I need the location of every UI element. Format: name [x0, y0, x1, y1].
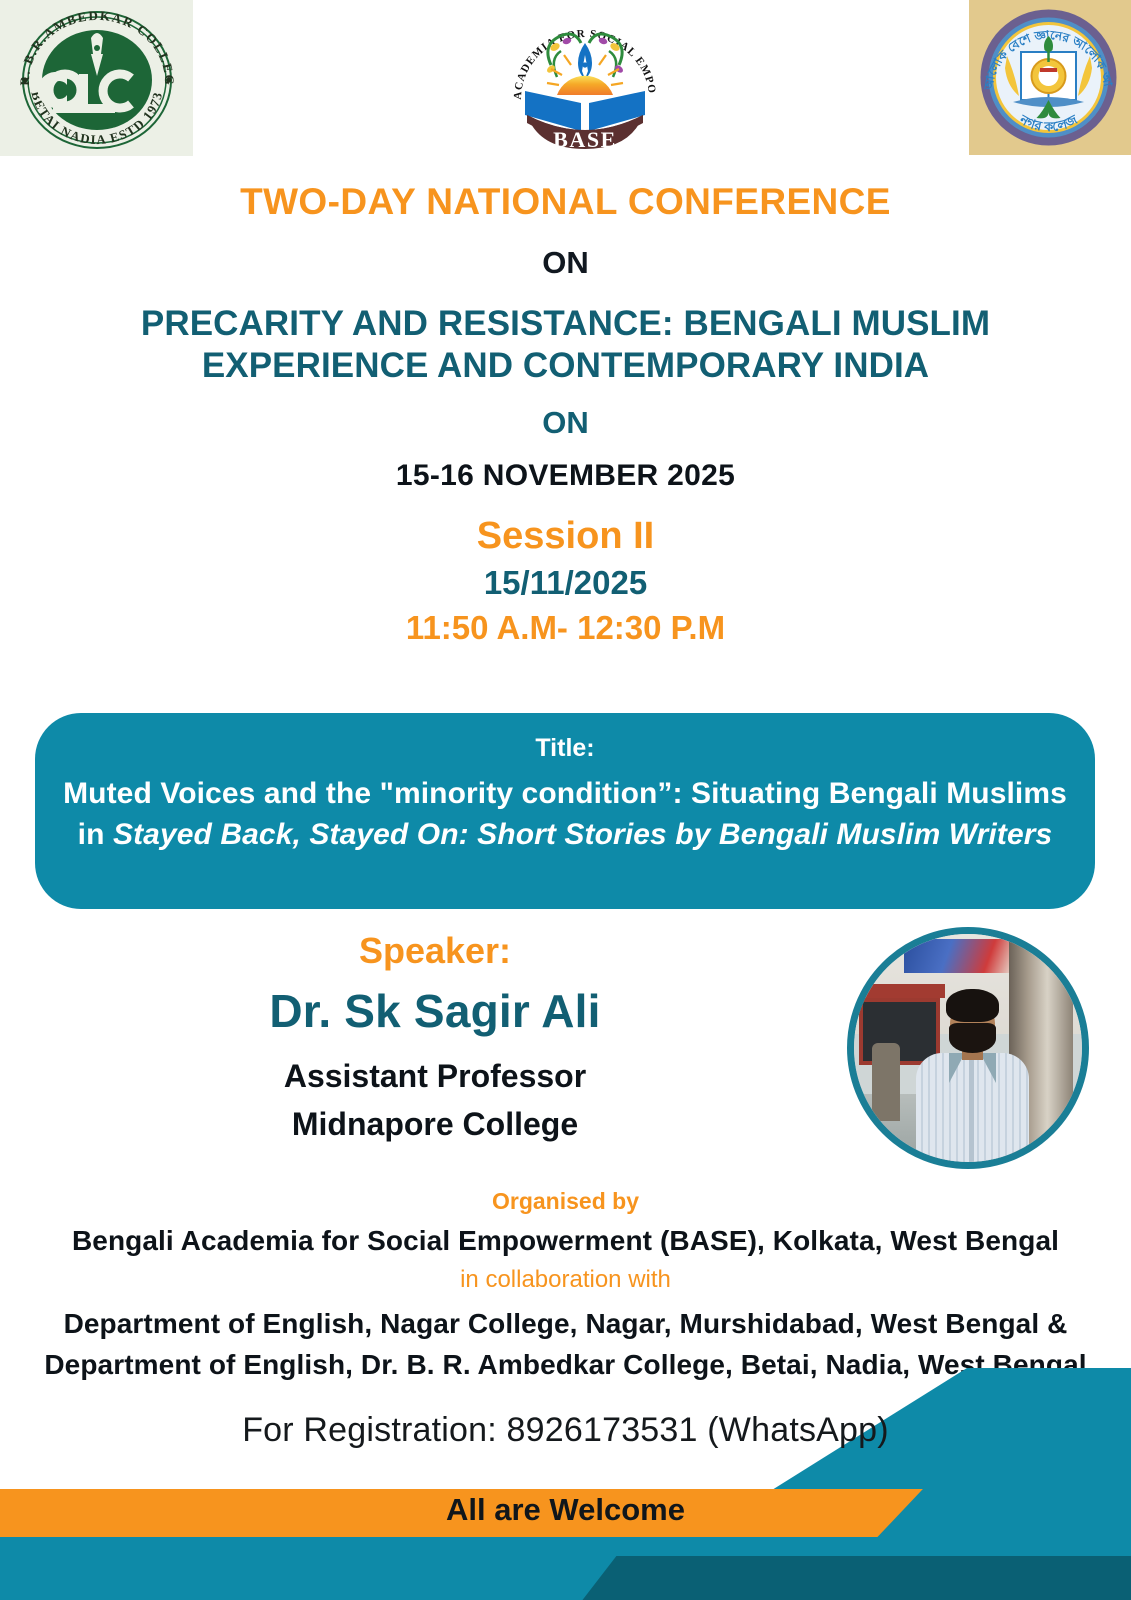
- conference-poster: DR. B.R.AMBEDKAR COLLEGE BETAI NADIA EST…: [0, 0, 1131, 1600]
- dr-br-ambedkar-college-logo-icon: DR. B.R.AMBEDKAR COLLEGE BETAI NADIA EST…: [7, 4, 187, 152]
- speaker-name: Dr. Sk Sagir Ali: [40, 984, 830, 1038]
- paper-title-text: Muted Voices and the "minority condition…: [57, 773, 1073, 856]
- registration-line: For Registration: 8926173531 (WhatsApp): [0, 1411, 1131, 1450]
- organised-by-label: Organised by: [0, 1188, 1131, 1215]
- photo-shirt-placket: [969, 1058, 974, 1162]
- welcome-line: All are Welcome: [0, 1492, 1131, 1528]
- on-label-2: ON: [0, 405, 1131, 441]
- speaker-label: Speaker:: [40, 930, 830, 972]
- conference-topic-line-1: PRECARITY AND RESISTANCE: BENGALI MUSLIM: [66, 303, 1066, 346]
- conference-dates: 15-16 NOVEMBER 2025: [0, 459, 1131, 493]
- photo-hair: [946, 989, 998, 1022]
- conference-topic: PRECARITY AND RESISTANCE: BENGALI MUSLIM…: [66, 303, 1066, 388]
- on-label-1: ON: [0, 245, 1131, 281]
- title-label: Title:: [57, 733, 1073, 763]
- speaker-block: Speaker: Dr. Sk Sagir Ali Assistant Prof…: [40, 930, 830, 1148]
- heading-block: TWO-DAY NATIONAL CONFERENCE ON PRECARITY…: [0, 172, 1131, 647]
- session-date: 15/11/2025: [0, 564, 1131, 602]
- speaker-affiliation: Midnapore College: [40, 1100, 830, 1148]
- organisers-block: Organised by Bengali Academia for Social…: [0, 1188, 1131, 1385]
- speaker-photo: [847, 927, 1089, 1169]
- photo-subject: [913, 989, 1032, 1162]
- session-label: Session II: [0, 515, 1131, 558]
- conference-topic-line-2: EXPERIENCE AND CONTEMPORARY INDIA: [66, 345, 1066, 388]
- paper-title-box: Title: Muted Voices and the "minority co…: [35, 713, 1095, 909]
- paper-title-italic: Stayed Back, Stayed On: Short Stories by…: [113, 818, 1052, 851]
- conference-title: TWO-DAY NATIONAL CONFERENCE: [0, 182, 1131, 223]
- svg-text:BASE: BASE: [553, 127, 617, 152]
- logo-band: DR. B.R.AMBEDKAR COLLEGE BETAI NADIA EST…: [0, 0, 1131, 170]
- photo-beard: [949, 1023, 996, 1052]
- session-time: 11:50 A.M- 12:30 P.M: [0, 609, 1131, 647]
- base-logo-icon: BENGALI ACADEMIA FOR SOCIAL EMPOWERMENT: [505, 3, 665, 163]
- speaker-details: Assistant Professor Midnapore College: [40, 1052, 830, 1148]
- organiser-main: Bengali Academia for Social Empowerment …: [0, 1225, 1131, 1257]
- photo-background-person: [872, 1043, 899, 1121]
- speaker-designation: Assistant Professor: [40, 1052, 830, 1100]
- speaker-photo-image: [854, 934, 1082, 1162]
- nagar-college-logo-icon: ও আলোক বেশে জ্ঞানের আলোক আনো নগর কলেজ: [977, 6, 1120, 149]
- collaboration-label: in collaboration with: [0, 1266, 1131, 1294]
- photo-banner: [904, 939, 1013, 973]
- department-line-1: Department of English, Nagar College, Na…: [0, 1304, 1131, 1345]
